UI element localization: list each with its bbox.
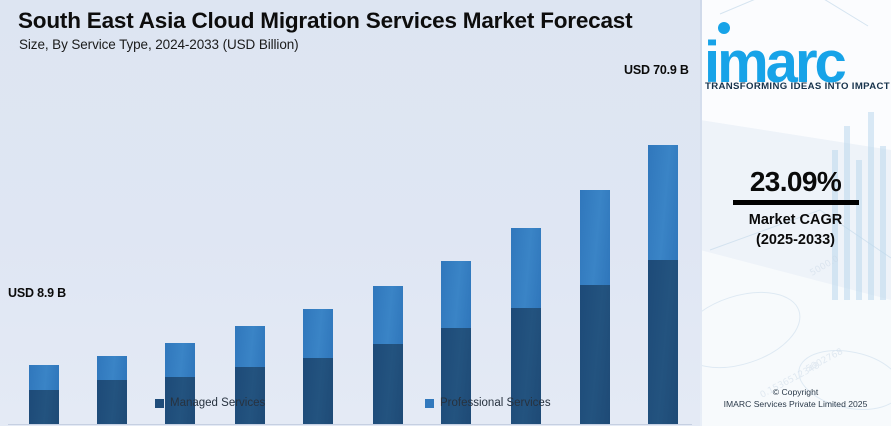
copyright-line-1: © Copyright [700, 386, 891, 398]
bar-2032[interactable] [580, 190, 610, 424]
legend-label-professional-services: Professional Services [440, 397, 551, 409]
bar-segment-professional-2024[interactable] [29, 365, 59, 390]
imarc-logo: imarc TRANSFORMING IDEAS INTO IMPACT [700, 14, 891, 100]
first-bar-value-label: USD 8.9 B [8, 286, 66, 300]
last-bar-value-label: USD 70.9 B [624, 63, 689, 77]
copyright-notice: © Copyright IMARC Services Private Limit… [700, 386, 891, 411]
bar-segment-professional-2026[interactable] [165, 343, 195, 377]
cagr-rule [733, 200, 859, 205]
page-title: South East Asia Cloud Migration Services… [18, 8, 688, 33]
bar-segment-professional-2028[interactable] [303, 309, 333, 358]
chart-screenshot: South East Asia Cloud Migration Services… [0, 0, 891, 426]
page-subtitle: Size, By Service Type, 2024-2033 (USD Bi… [19, 37, 689, 52]
cagr-period: (2025-2033) [700, 232, 891, 248]
brand-panel: 0.1536512348 5002768 5000.0 imarc TRANSF… [700, 0, 891, 426]
plot-area: 2024202520262027202820292030203120322033… [0, 60, 700, 365]
legend-swatch-professional-services [425, 399, 434, 408]
legend-label-managed-services: Managed Services [170, 397, 265, 409]
bar-2033[interactable] [648, 145, 678, 424]
cagr-value: 23.09% [700, 166, 891, 198]
chart-legend: Managed Services Professional Services [0, 396, 700, 416]
bar-segment-professional-2032[interactable] [580, 190, 610, 285]
bar-segment-professional-2031[interactable] [511, 228, 541, 308]
copyright-line-2: IMARC Services Private Limited 2025 [700, 398, 891, 410]
cagr-label: Market CAGR [700, 212, 891, 228]
chart-panel: South East Asia Cloud Migration Services… [0, 0, 700, 426]
x-axis-line [8, 424, 692, 425]
bar-segment-professional-2030[interactable] [441, 261, 471, 328]
bar-segment-professional-2025[interactable] [97, 356, 127, 380]
logo-tagline: TRANSFORMING IDEAS INTO IMPACT [705, 81, 891, 92]
bar-segment-professional-2029[interactable] [373, 286, 403, 344]
bar-segment-professional-2033[interactable] [648, 145, 678, 260]
legend-item-professional-services[interactable]: Professional Services [425, 397, 551, 409]
bar-segment-professional-2027[interactable] [235, 326, 265, 367]
legend-swatch-managed-services [155, 399, 164, 408]
legend-item-managed-services[interactable]: Managed Services [155, 397, 265, 409]
bar-2031[interactable] [511, 228, 541, 424]
